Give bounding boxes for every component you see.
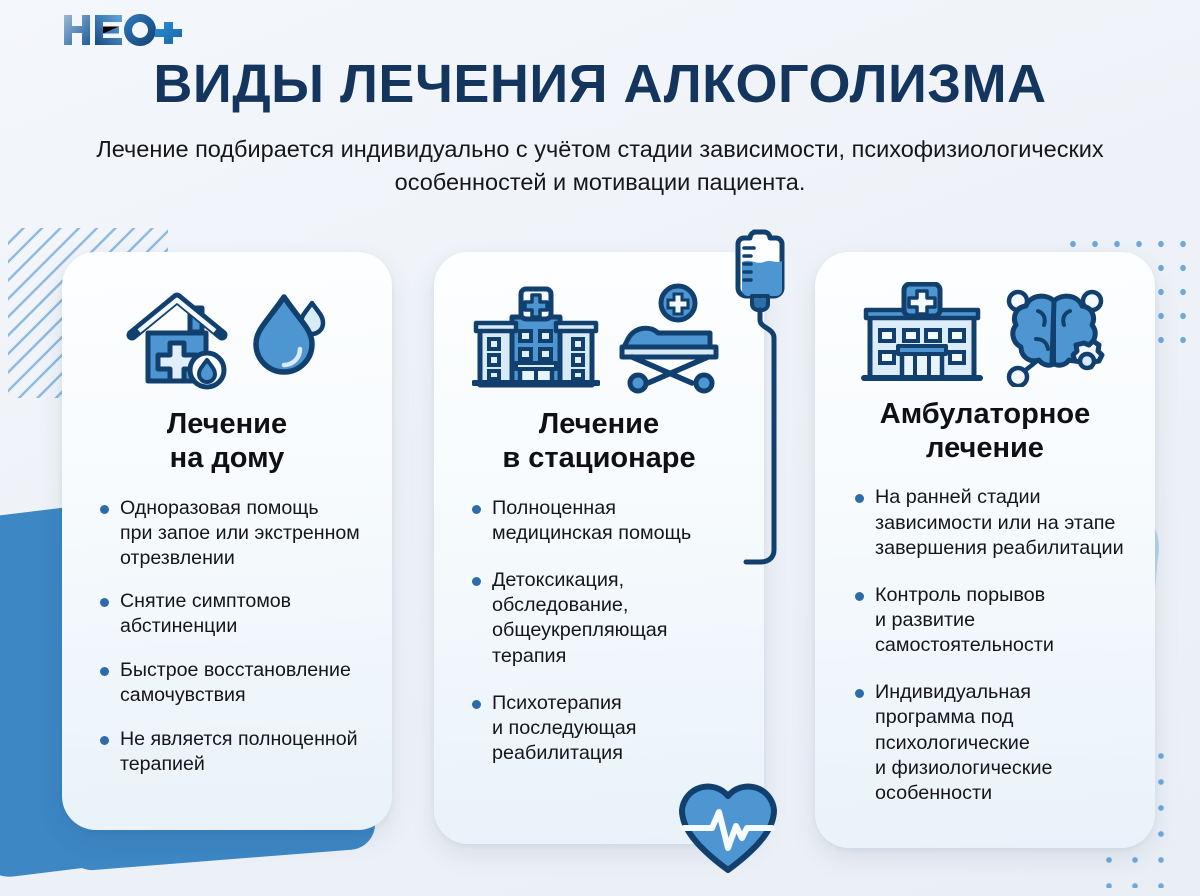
list-item: Быстрое восстановление самочувствия (98, 658, 370, 708)
hospital-gurney-icon (614, 283, 726, 395)
heart-pulse-decoration (676, 778, 780, 878)
list-item: Психотерапия и последующая реабилитация (470, 691, 742, 766)
page-subtitle: Лечение подбирается индивидуально с учёт… (95, 133, 1105, 200)
card-bullet-list: На ранней стадии зависимости или на этап… (837, 485, 1133, 828)
card-outpatient-treatment[interactable]: Амбулаторное лечение На ранней стадии за… (815, 252, 1155, 848)
card-title: Лечение в стационаре (502, 408, 695, 476)
list-item: На ранней стадии зависимости или на этап… (853, 485, 1133, 560)
list-item: Детоксикация, обследование, общеукрепляю… (470, 568, 742, 669)
list-item: Снятие симптомов абстиненции (98, 589, 370, 639)
card-title: Амбулаторное лечение (880, 398, 1090, 466)
card-home-treatment[interactable]: Лечение на дому Одноразовая помощь при з… (62, 252, 392, 830)
card-title: Лечение на дому (167, 408, 287, 476)
water-drop-icon (250, 287, 336, 391)
list-item: Индивидуальная программа под психологиче… (853, 680, 1133, 806)
iv-drip-decoration (728, 226, 794, 566)
card-bullet-list: Одноразовая помощь при запое или экстрен… (84, 496, 370, 796)
cards-container: Лечение на дому Одноразовая помощь при з… (0, 252, 1200, 852)
header: ВИДЫ ЛЕЧЕНИЯ АЛКОГОЛИЗМА Лечение подбира… (0, 0, 1200, 199)
list-item: Контроль порывов и развитие самостоятель… (853, 583, 1133, 658)
infographic-canvas: ВИДЫ ЛЕЧЕНИЯ АЛКОГОЛИЗМА Лечение подбира… (0, 0, 1200, 896)
card-icons (860, 278, 1110, 390)
neo-plus-logo-icon (62, 10, 184, 50)
card-inpatient-treatment[interactable]: Лечение в стационаре Полноценная медицин… (434, 252, 764, 844)
card-icons (118, 278, 336, 400)
brand-logo (62, 10, 184, 50)
list-item: Полноценная медицинская помощь (470, 496, 742, 546)
house-medical-icon (118, 286, 236, 392)
card-bullet-list: Полноценная медицинская помощь Детоксика… (456, 496, 742, 788)
hospital-building-icon (472, 283, 600, 395)
card-icons (472, 278, 726, 400)
iv-drip-icon (728, 226, 794, 566)
list-item: Не является полноценной терапией (98, 727, 370, 777)
list-item: Одноразовая помощь при запое или экстрен… (98, 496, 370, 571)
clinic-building-icon (860, 282, 984, 386)
heart-pulse-icon (676, 778, 780, 878)
brain-gear-icon (998, 281, 1110, 387)
page-title: ВИДЫ ЛЕЧЕНИЯ АЛКОГОЛИЗМА (0, 56, 1200, 113)
